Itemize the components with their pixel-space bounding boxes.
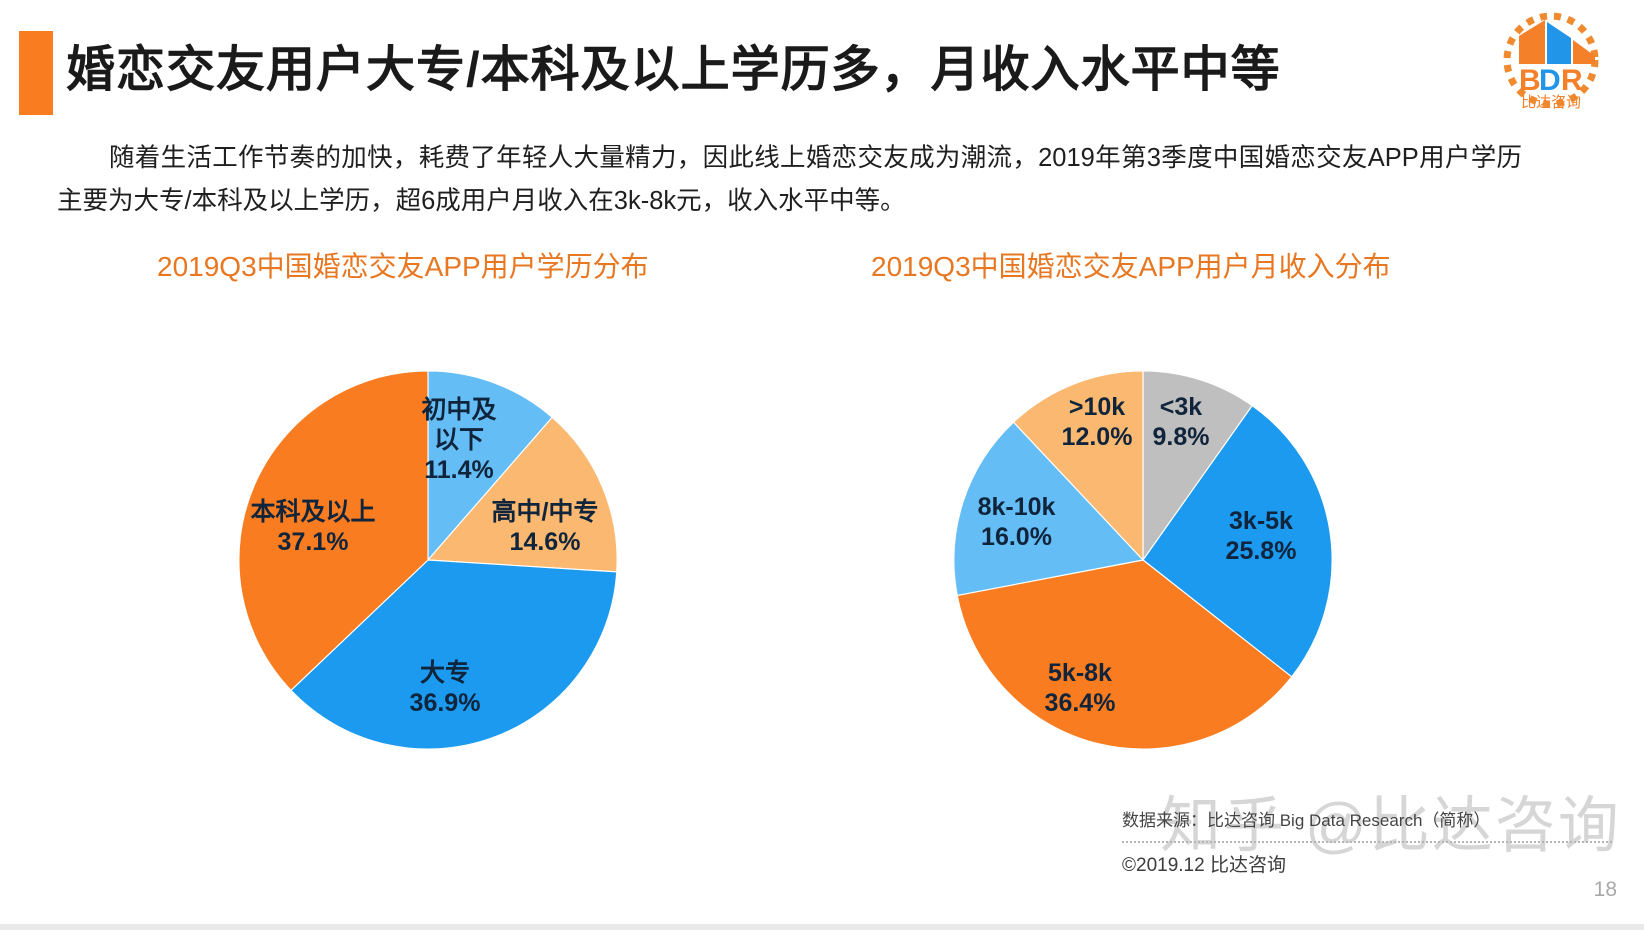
logo-wordmark-d: D (1539, 64, 1561, 97)
bdr-logo-icon: B D R 比达咨询 (1459, 8, 1629, 110)
chart-title-income: 2019Q3中国婚恋交友APP用户月收入分布 (871, 245, 1391, 285)
body-paragraph: 随着生活工作节奏的加快，耗费了年轻人大量精力，因此线上婚恋交友成为潮流，2019… (57, 137, 1522, 223)
logo-wordmark-r: R (1561, 64, 1583, 97)
slide-bottom-edge (0, 924, 1644, 930)
page-title: 婚恋交友用户大专/本科及以上学历多，月收入水平中等 (66, 33, 1281, 107)
bdr-logo: B D R 比达咨询 (1459, 8, 1629, 110)
slide-canvas: 婚恋交友用户大专/本科及以上学历多，月收入水平中等 B D R 比达咨询 随着生… (0, 0, 1644, 930)
page-number: 18 (1594, 878, 1617, 902)
logo-subtext: 比达咨询 (1521, 94, 1581, 110)
pie-chart-education (237, 369, 619, 751)
pie-chart-income (952, 369, 1334, 751)
pie-income-svg (952, 369, 1334, 751)
copyright-line: ©2019.12 比达咨询 (1122, 850, 1286, 877)
logo-wordmark-b: B (1519, 64, 1541, 97)
footer-divider (1122, 841, 1612, 843)
chart-title-education: 2019Q3中国婚恋交友APP用户学历分布 (157, 245, 649, 285)
logo-shape-blue (1547, 22, 1571, 64)
title-accent-bar (19, 31, 53, 115)
logo-shape-orange (1519, 20, 1545, 64)
source-line: 数据来源：比达咨询 Big Data Research（简称） (1122, 806, 1490, 831)
pie-education-svg (237, 369, 619, 751)
